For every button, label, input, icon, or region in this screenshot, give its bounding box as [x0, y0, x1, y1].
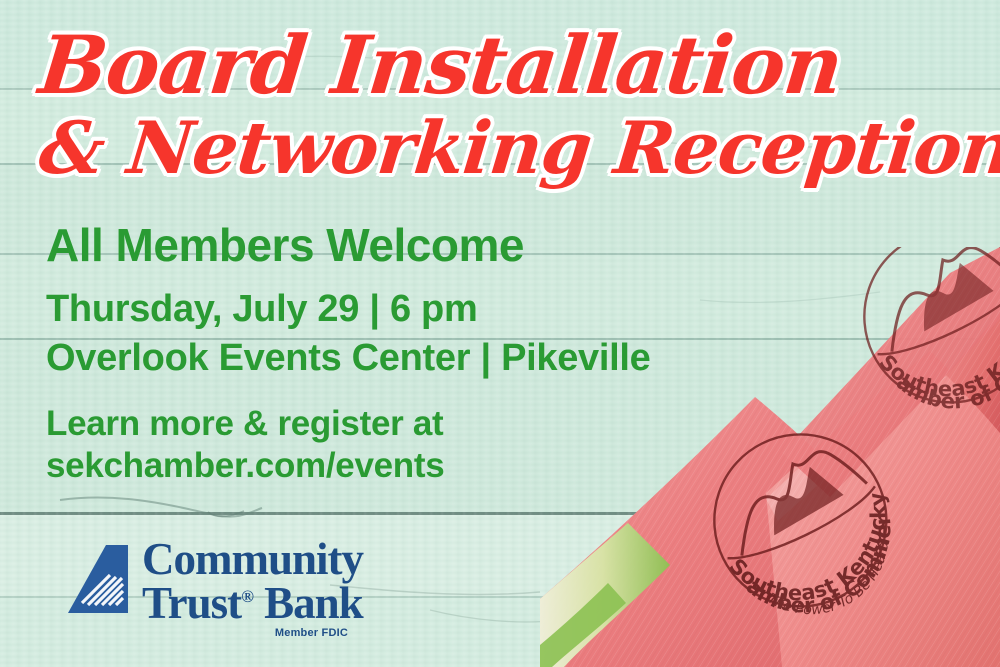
bank-word-trust-bank: Trust® Bank: [142, 581, 372, 625]
all-members-welcome-headline: All Members Welcome: [46, 218, 524, 272]
poster-canvas: Southeast Kentucky Chamber of Commerce —…: [0, 0, 1000, 667]
event-date-time: Thursday, July 29 | 6 pm: [46, 288, 477, 331]
bank-wordmark: Community Trust® Bank Member FDIC: [142, 537, 372, 639]
cta-url[interactable]: sekchamber.com/events: [46, 446, 444, 486]
event-venue: Overlook Events Center | Pikeville: [46, 337, 650, 380]
bank-triangle-mark: [66, 543, 134, 617]
community-trust-bank-logo: Community Trust® Bank Member FDIC: [66, 537, 366, 629]
member-fdic-disclosure: Member FDIC: [142, 627, 348, 639]
bank-word-community: Community: [142, 537, 372, 581]
bank-word-bank: Bank: [264, 578, 363, 628]
poster-title-line2: & Networking Reception: [36, 108, 1000, 188]
watermelon-photo: Southeast Kentucky Chamber of Commerce —…: [530, 247, 1000, 667]
bank-word-trust: Trust: [142, 578, 241, 628]
registered-mark-icon: ®: [241, 587, 254, 606]
cta-line-1: Learn more & register at: [46, 404, 443, 444]
poster-title-line1: Board Installation: [35, 22, 846, 108]
